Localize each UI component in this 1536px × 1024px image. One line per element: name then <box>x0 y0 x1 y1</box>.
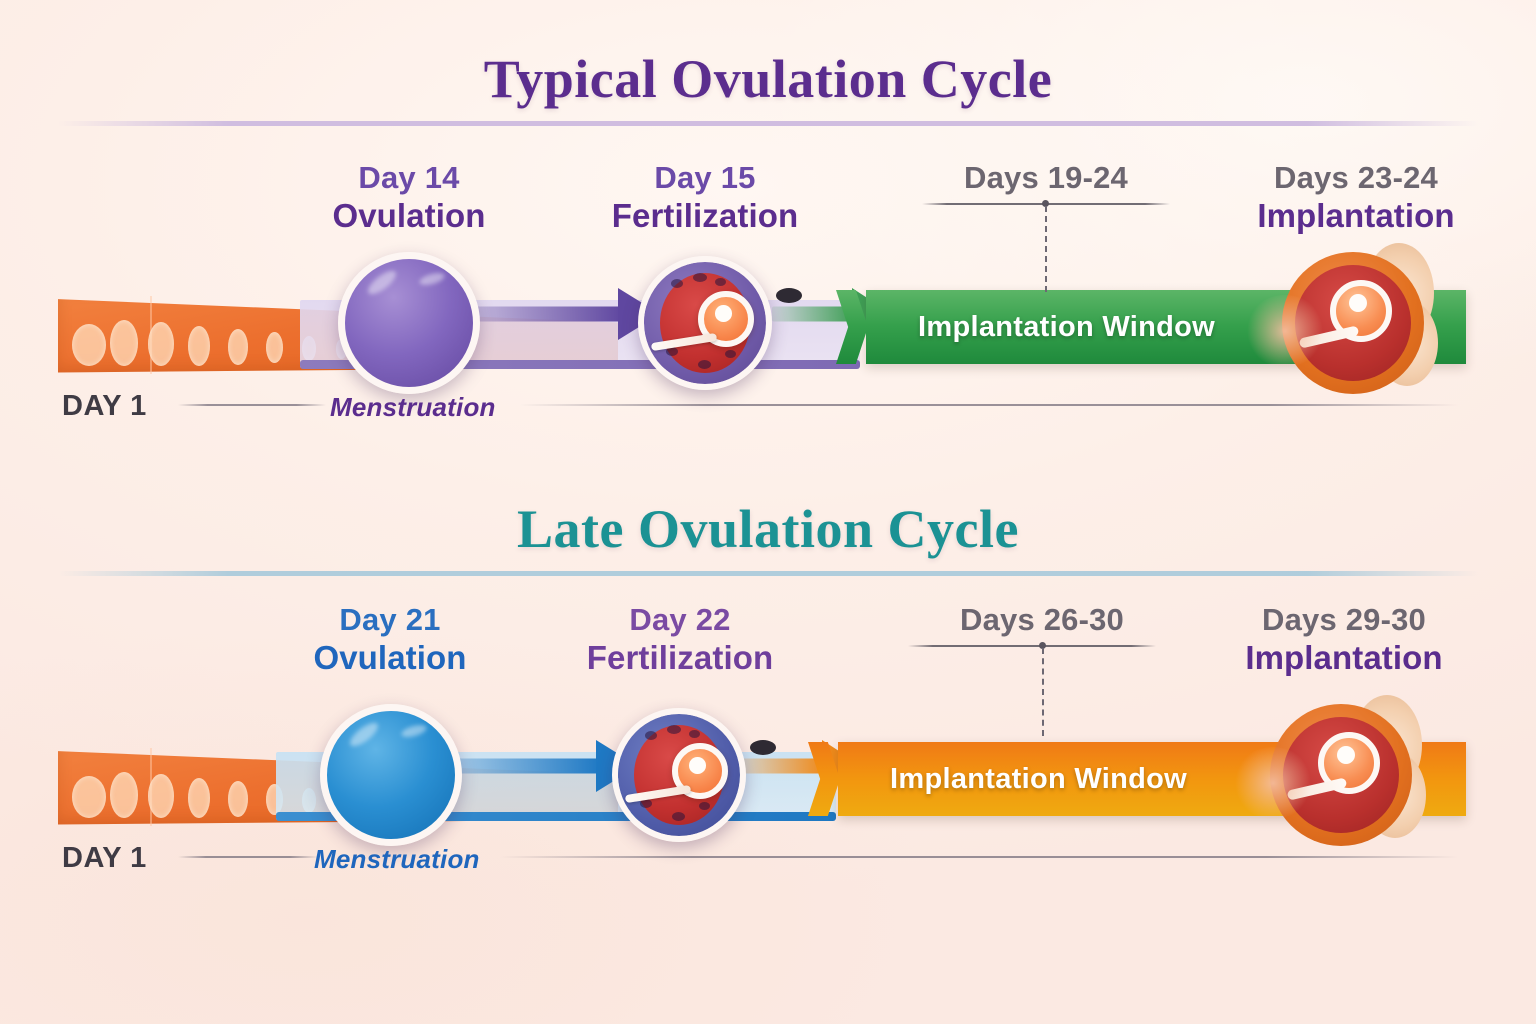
implantation-window-bracket-label-late: Days 26-30 <box>918 604 1166 637</box>
window-leader-dash-late <box>1042 648 1044 736</box>
title-divider-late <box>58 571 1478 576</box>
sperm-head-icon-typical <box>776 288 802 303</box>
window-bracket-line-late <box>908 645 1156 647</box>
stage-event-label: Fertilization <box>584 199 826 234</box>
baseline-rule-left-typical <box>178 404 326 406</box>
stage-caption-fertilization-late: Day 22 Fertilization <box>558 604 802 676</box>
stage-caption-implantation-late: Days 29-30 Implantation <box>1218 604 1470 676</box>
ovum-sphere-icon-typical <box>338 252 480 394</box>
stage-day-label: Day 22 <box>558 604 802 637</box>
baseline-rule-left-late <box>178 856 318 858</box>
stage-event-label: Implantation <box>1218 641 1470 676</box>
title-divider-typical <box>58 121 1478 126</box>
stage-day-label: Days 23-24 <box>1230 162 1482 195</box>
panel-typical-ovulation-cycle: Typical Ovulation Cycle <box>0 0 1536 470</box>
sperm-head-icon-late <box>750 740 776 755</box>
baseline-rule-right-late <box>500 856 1458 858</box>
stage-event-label: Ovulation <box>268 641 512 676</box>
day-one-label-typical: DAY 1 <box>62 390 147 423</box>
menstruation-phase-label-typical: Menstruation <box>330 392 496 423</box>
stage-caption-ovulation-typical: Day 14 Ovulation <box>288 162 530 234</box>
stage-event-label: Ovulation <box>288 199 530 234</box>
stage-caption-implantation-typical: Days 23-24 Implantation <box>1230 162 1482 234</box>
arrow-ovulation-to-fertilization <box>470 288 660 340</box>
stage-day-label: Day 14 <box>288 162 530 195</box>
ovum-sphere-icon-late <box>320 704 462 846</box>
implantation-window-label: Implantation Window <box>890 763 1187 796</box>
arrow-ovulation-to-fertilization <box>452 740 638 792</box>
stage-event-label: Fertilization <box>558 641 802 676</box>
baseline-rule-right-typical <box>520 404 1458 406</box>
stage-day-label: Day 15 <box>584 162 826 195</box>
implantation-window-label: Implantation Window <box>918 311 1215 344</box>
window-days-label: Days 19-24 <box>922 162 1170 195</box>
stage-event-label: Implantation <box>1230 199 1482 234</box>
stage-caption-ovulation-late: Day 21 Ovulation <box>268 604 512 676</box>
stage-day-label: Day 21 <box>268 604 512 637</box>
fertilization-icon-typical <box>638 256 772 390</box>
fertilization-icon-late <box>612 708 746 842</box>
window-leader-dash-typical <box>1045 206 1047 292</box>
page-title-typical: Typical Ovulation Cycle <box>0 48 1536 110</box>
panel-late-ovulation-cycle: Late Ovulation Cycle <box>0 470 1536 1024</box>
menstruation-phase-label-late: Menstruation <box>314 844 480 875</box>
stage-day-label: Days 29-30 <box>1218 604 1470 637</box>
implantation-icon-typical <box>1282 252 1424 394</box>
implantation-icon-late <box>1270 704 1412 846</box>
stage-caption-fertilization-typical: Day 15 Fertilization <box>584 162 826 234</box>
page-title-late: Late Ovulation Cycle <box>0 498 1536 560</box>
day-one-label-late: DAY 1 <box>62 842 147 875</box>
window-days-label: Days 26-30 <box>918 604 1166 637</box>
implantation-window-bracket-label-typical: Days 19-24 <box>922 162 1170 195</box>
